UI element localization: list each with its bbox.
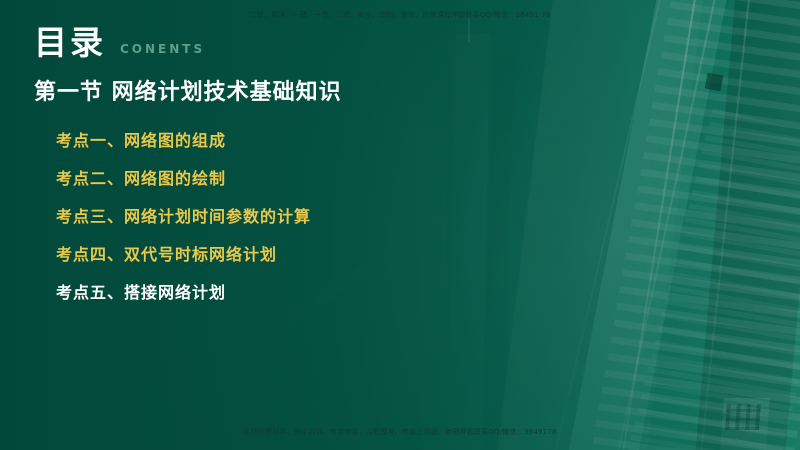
toc-item[interactable]: 考点二、网络图的绘制 [56,160,311,198]
presentation-slide: 二建、监理、一建、一造、二造、安全、消防、咨询、检测课程押题联系QQ/微信：38… [0,0,800,450]
toc-item[interactable]: 考点五、搭接网络计划 [56,274,311,312]
catalog-heading-cn: 目录 [34,26,106,59]
catalog-heading-en: CONENTS [120,42,205,59]
slide-content: 二建、监理、一建、一造、二造、安全、消防、咨询、检测课程押题联系QQ/微信：38… [0,0,800,450]
section-title: 第一节 网络计划技术基础知识 [34,74,342,106]
catalog-heading: 目录 CONENTS [34,26,205,59]
bottom-promo-banner: 名师面授精华、央企内训、考点串讲、习题模考、考前三页纸、绝密押题联系QQ/微信：… [0,428,800,438]
table-of-contents-list: 考点一、网络图的组成 考点二、网络图的绘制 考点三、网络计划时间参数的计算 考点… [56,122,311,312]
toc-item[interactable]: 考点三、网络计划时间参数的计算 [56,198,311,236]
toc-item[interactable]: 考点一、网络图的组成 [56,122,311,160]
top-promo-banner: 二建、监理、一建、一造、二造、安全、消防、咨询、检测课程押题联系QQ/微信：38… [0,11,800,21]
toc-item[interactable]: 考点四、双代号时标网络计划 [56,236,311,274]
